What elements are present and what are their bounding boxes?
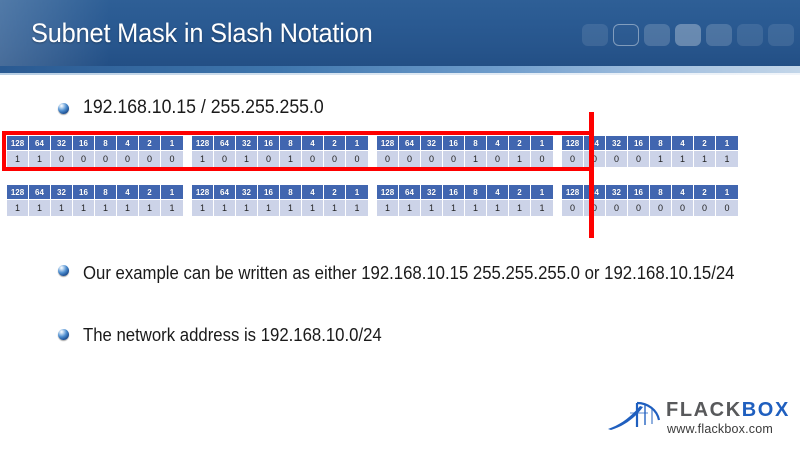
bullet-item-address-mask: 192.168.10.15 / 255.255.255.0 <box>58 96 342 120</box>
bit-cell: 1 <box>465 200 487 216</box>
bit-cell: 1 <box>117 200 139 216</box>
place-value-cell: 2 <box>694 136 716 151</box>
place-value-cell: 128 <box>7 185 29 200</box>
square-7-icon <box>768 24 794 46</box>
bit-cell: 1 <box>192 200 214 216</box>
bit-cell: 1 <box>236 200 258 216</box>
header-decor-squares <box>582 24 794 46</box>
place-value-cell: 64 <box>584 185 606 200</box>
octet-bits-row: 1 1 1 1 1 1 1 1 <box>192 200 368 216</box>
bullet-text: The network address is 192.168.10.0/24 <box>83 322 382 348</box>
bit-cell: 1 <box>399 200 421 216</box>
square-4-bright-icon <box>675 24 701 46</box>
place-value-cell: 16 <box>628 185 650 200</box>
octet-header-row: 128 64 32 16 8 4 2 1 <box>377 185 553 200</box>
bit-cell: 0 <box>672 200 694 216</box>
place-value-cell: 4 <box>302 185 324 200</box>
place-value-cell: 8 <box>650 136 672 151</box>
place-value-cell: 4 <box>117 185 139 200</box>
bit-cell: 0 <box>628 151 650 167</box>
bullet-item-notation-equivalence: Our example can be written as either 192… <box>58 258 800 288</box>
place-value-cell: 1 <box>346 185 368 200</box>
logo-url: www.flackbox.com <box>667 422 773 436</box>
slide: Subnet Mask in Slash Notation 192.168.10… <box>0 0 800 450</box>
bit-cell: 0 <box>628 200 650 216</box>
flackbox-logo: FLACKBOX www.flackbox.com <box>604 398 794 444</box>
bit-table-subnet-mask: 128 64 32 16 8 4 2 1 1 1 1 1 1 1 1 1 <box>7 185 738 216</box>
bit-cell: 1 <box>443 200 465 216</box>
bullet-text: Our example can be written as either 192… <box>83 258 771 288</box>
prefix-boundary-line <box>589 112 594 238</box>
square-6-icon <box>737 24 763 46</box>
bit-cell: 1 <box>214 200 236 216</box>
octet-header-row: 128 64 32 16 8 4 2 1 <box>7 185 183 200</box>
square-3-icon <box>644 24 670 46</box>
bit-cell: 1 <box>29 200 51 216</box>
bit-cell: 1 <box>280 200 302 216</box>
bit-cell: 1 <box>51 200 73 216</box>
logo-word-first: FLACK <box>666 399 742 421</box>
place-value-cell: 2 <box>694 185 716 200</box>
place-value-cell: 2 <box>509 185 531 200</box>
octet-bits-row: 1 1 1 1 1 1 1 1 <box>377 200 553 216</box>
bit-cell: 1 <box>324 200 346 216</box>
place-value-cell: 1 <box>531 185 553 200</box>
octet-bits-row: 1 1 1 1 1 1 1 1 <box>7 200 183 216</box>
bullet-item-network-address: The network address is 192.168.10.0/24 <box>58 322 404 348</box>
octet-group: 128 64 32 16 8 4 2 1 1 1 1 1 1 1 1 1 <box>377 185 553 216</box>
bit-cell: 0 <box>562 200 584 216</box>
place-value-cell: 8 <box>650 185 672 200</box>
bit-cell: 0 <box>606 151 628 167</box>
bit-cell: 0 <box>584 200 606 216</box>
place-value-cell: 1 <box>161 185 183 200</box>
place-value-cell: 64 <box>399 185 421 200</box>
place-value-cell: 8 <box>465 185 487 200</box>
bit-cell: 0 <box>694 200 716 216</box>
place-value-cell: 8 <box>280 185 302 200</box>
place-value-cell: 32 <box>606 185 628 200</box>
place-value-cell: 32 <box>51 185 73 200</box>
place-value-cell: 32 <box>606 136 628 151</box>
bit-cell: 1 <box>650 151 672 167</box>
place-value-cell: 64 <box>29 185 51 200</box>
header-accent-band-light <box>0 73 800 75</box>
bullet-sphere-icon <box>58 329 69 340</box>
logo-word-second: BOX <box>742 399 790 421</box>
octet-header-row: 128 64 32 16 8 4 2 1 <box>192 185 368 200</box>
bit-cell: 1 <box>346 200 368 216</box>
bit-cell: 0 <box>650 200 672 216</box>
slide-header: Subnet Mask in Slash Notation <box>0 0 800 66</box>
bit-cell: 0 <box>716 200 738 216</box>
bit-cell: 1 <box>672 151 694 167</box>
place-value-cell: 2 <box>139 185 161 200</box>
bit-cell: 1 <box>716 151 738 167</box>
place-value-cell: 16 <box>628 136 650 151</box>
bullet-sphere-icon <box>58 103 69 114</box>
network-portion-highlight-box <box>2 131 594 171</box>
place-value-cell: 32 <box>236 185 258 200</box>
place-value-cell: 1 <box>716 136 738 151</box>
place-value-cell: 32 <box>421 185 443 200</box>
bit-cell: 1 <box>139 200 161 216</box>
place-value-cell: 4 <box>672 185 694 200</box>
square-1-icon <box>582 24 608 46</box>
page-title: Subnet Mask in Slash Notation <box>31 14 373 52</box>
place-value-cell: 4 <box>487 185 509 200</box>
bullet-text: 192.168.10.15 / 255.255.255.0 <box>83 96 324 120</box>
place-value-cell: 64 <box>214 185 236 200</box>
square-2-outline-icon <box>613 24 639 46</box>
place-value-cell: 128 <box>562 185 584 200</box>
bit-cell: 1 <box>487 200 509 216</box>
logo-wordmark: FLACKBOX <box>666 399 790 422</box>
bit-cell: 1 <box>73 200 95 216</box>
bit-cell: 1 <box>95 200 117 216</box>
place-value-cell: 2 <box>324 185 346 200</box>
place-value-cell: 16 <box>73 185 95 200</box>
bit-cell: 1 <box>421 200 443 216</box>
place-value-cell: 128 <box>377 185 399 200</box>
square-5-icon <box>706 24 732 46</box>
bit-cell: 1 <box>694 151 716 167</box>
octet-group: 128 64 32 16 8 4 2 1 1 1 1 1 1 1 1 1 <box>192 185 368 216</box>
bit-cell: 1 <box>377 200 399 216</box>
bit-cell: 1 <box>509 200 531 216</box>
bit-cell: 0 <box>606 200 628 216</box>
bullet-sphere-icon <box>58 265 69 276</box>
header-accent-band <box>0 66 800 73</box>
bridge-mark-icon <box>604 400 662 434</box>
place-value-cell: 16 <box>443 185 465 200</box>
bit-cell: 1 <box>161 200 183 216</box>
place-value-cell: 4 <box>672 136 694 151</box>
place-value-cell: 16 <box>258 185 280 200</box>
place-value-cell: 8 <box>95 185 117 200</box>
bit-cell: 1 <box>7 200 29 216</box>
bit-cell: 1 <box>258 200 280 216</box>
place-value-cell: 128 <box>192 185 214 200</box>
place-value-cell: 1 <box>716 185 738 200</box>
octet-group: 128 64 32 16 8 4 2 1 1 1 1 1 1 1 1 1 <box>7 185 183 216</box>
bit-cell: 1 <box>302 200 324 216</box>
bit-cell: 1 <box>531 200 553 216</box>
